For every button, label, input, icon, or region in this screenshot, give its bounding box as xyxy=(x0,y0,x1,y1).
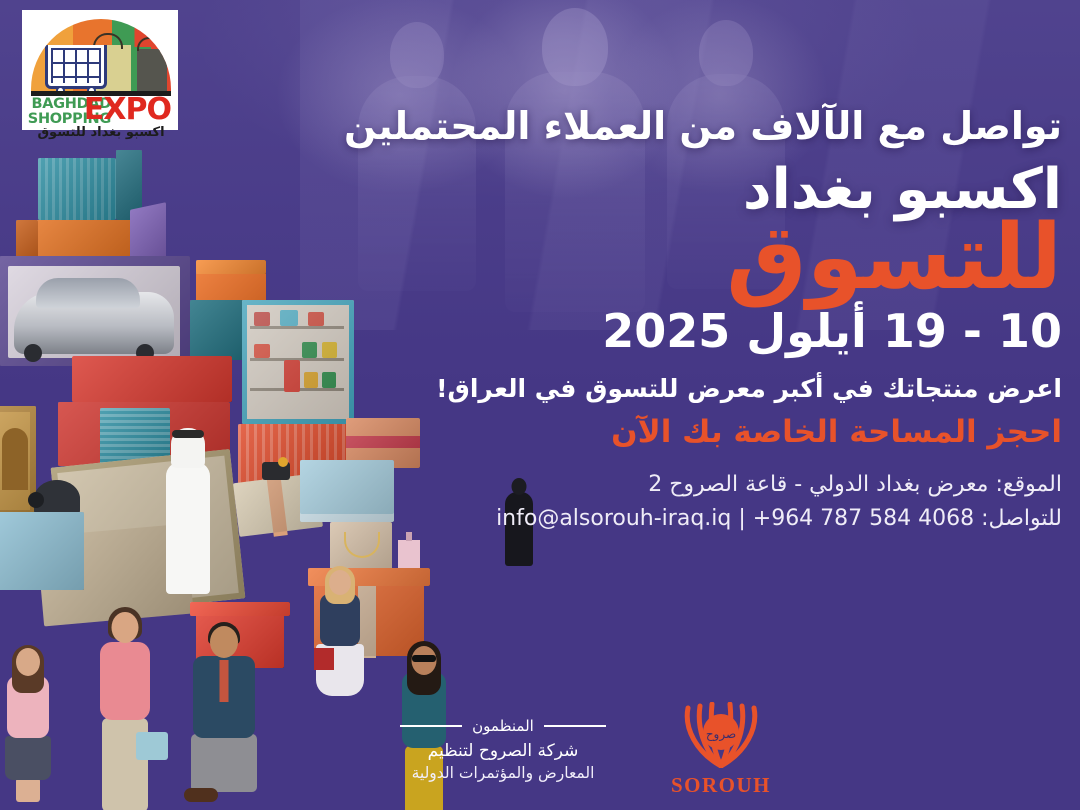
organizer-text-block: المنظمون شركة الصروح لتنظيم المعارض والم… xyxy=(360,717,646,784)
gift-box-red-seat-lid xyxy=(190,602,290,616)
svg-text:صروح: صروح xyxy=(706,727,736,742)
call-to-action: احجز المساحة الخاصة بك الآن xyxy=(262,413,1062,452)
box-teal-top xyxy=(38,158,116,220)
divider-rule-right xyxy=(400,725,462,727)
box-orange-mid-lid xyxy=(196,260,266,274)
organizer-heading: المنظمون xyxy=(472,717,534,735)
contact-label: للتواصل: xyxy=(981,506,1062,531)
organizer-name: شركة الصروح لتنظيم xyxy=(360,740,646,763)
car-display xyxy=(14,292,174,354)
event-dates: 10 - 19 أيلول 2025 xyxy=(262,306,1062,357)
brand-title-accent: للتسوق xyxy=(262,214,1062,302)
event-location: الموقع: معرض بغداد الدولي - قاعة الصروح … xyxy=(262,468,1062,502)
baghdad-shopping-expo-logo[interactable]: BAGHDAD SHOPPING EXPO اكسبو بغداد للتسوق xyxy=(22,10,178,130)
sorouh-wings-icon: صروح xyxy=(662,702,780,768)
organizer-heading-row: المنظمون xyxy=(360,717,646,735)
expo-logo-arc xyxy=(31,19,171,91)
sorouh-logo[interactable]: صروح SOROUH xyxy=(662,702,780,798)
shopping-cart-icon xyxy=(45,45,107,89)
divider-rule-left xyxy=(544,725,606,727)
shopping-bag-icon-grey xyxy=(137,49,167,91)
event-contact: للتواصل: info@alsorouh-iraq.iq | +964 78… xyxy=(262,502,1062,536)
contact-value[interactable]: info@alsorouh-iraq.iq | +964 787 584 406… xyxy=(496,506,974,531)
poster-copy-block: تواصل مع الآلاف من العملاء المحتملين اكس… xyxy=(262,104,1062,536)
organizer-description: المعارض والمؤتمرات الدولية xyxy=(360,763,646,784)
box-light-blue xyxy=(0,512,84,590)
expo-logo-arabic: اكسبو بغداد للتسوق xyxy=(31,125,171,140)
event-info-block: الموقع: معرض بغداد الدولي - قاعة الصروح … xyxy=(262,468,1062,536)
perfume-bottle-prop xyxy=(398,540,420,568)
shopper-man-thobe xyxy=(164,432,212,596)
box-red-upper xyxy=(72,356,232,402)
shopper-woman-pink-shirt xyxy=(96,612,154,810)
shopper-man-suit xyxy=(188,626,260,810)
sorouh-wordmark: SOROUH xyxy=(662,773,780,798)
pitch-text: اعرض منتجاتك في أكبر معرض للتسوق في العر… xyxy=(262,373,1062,406)
promotional-poster: BAGHDAD SHOPPING EXPO اكسبو بغداد للتسوق… xyxy=(0,0,1080,810)
bag-handle-icon-2 xyxy=(137,37,161,51)
organizer-footer: صروح SOROUH المنظمون شركة الصروح لتنظيم … xyxy=(360,700,780,800)
expo-logo-wordmark: BAGHDAD SHOPPING EXPO اكسبو بغداد للتسوق xyxy=(31,97,171,131)
headline: تواصل مع الآلاف من العملاء المحتملين xyxy=(262,104,1062,149)
expo-logo-expo: EXPO xyxy=(84,95,171,125)
shopper-child-girl xyxy=(4,648,52,808)
shopper-woman-on-steps xyxy=(316,570,364,712)
